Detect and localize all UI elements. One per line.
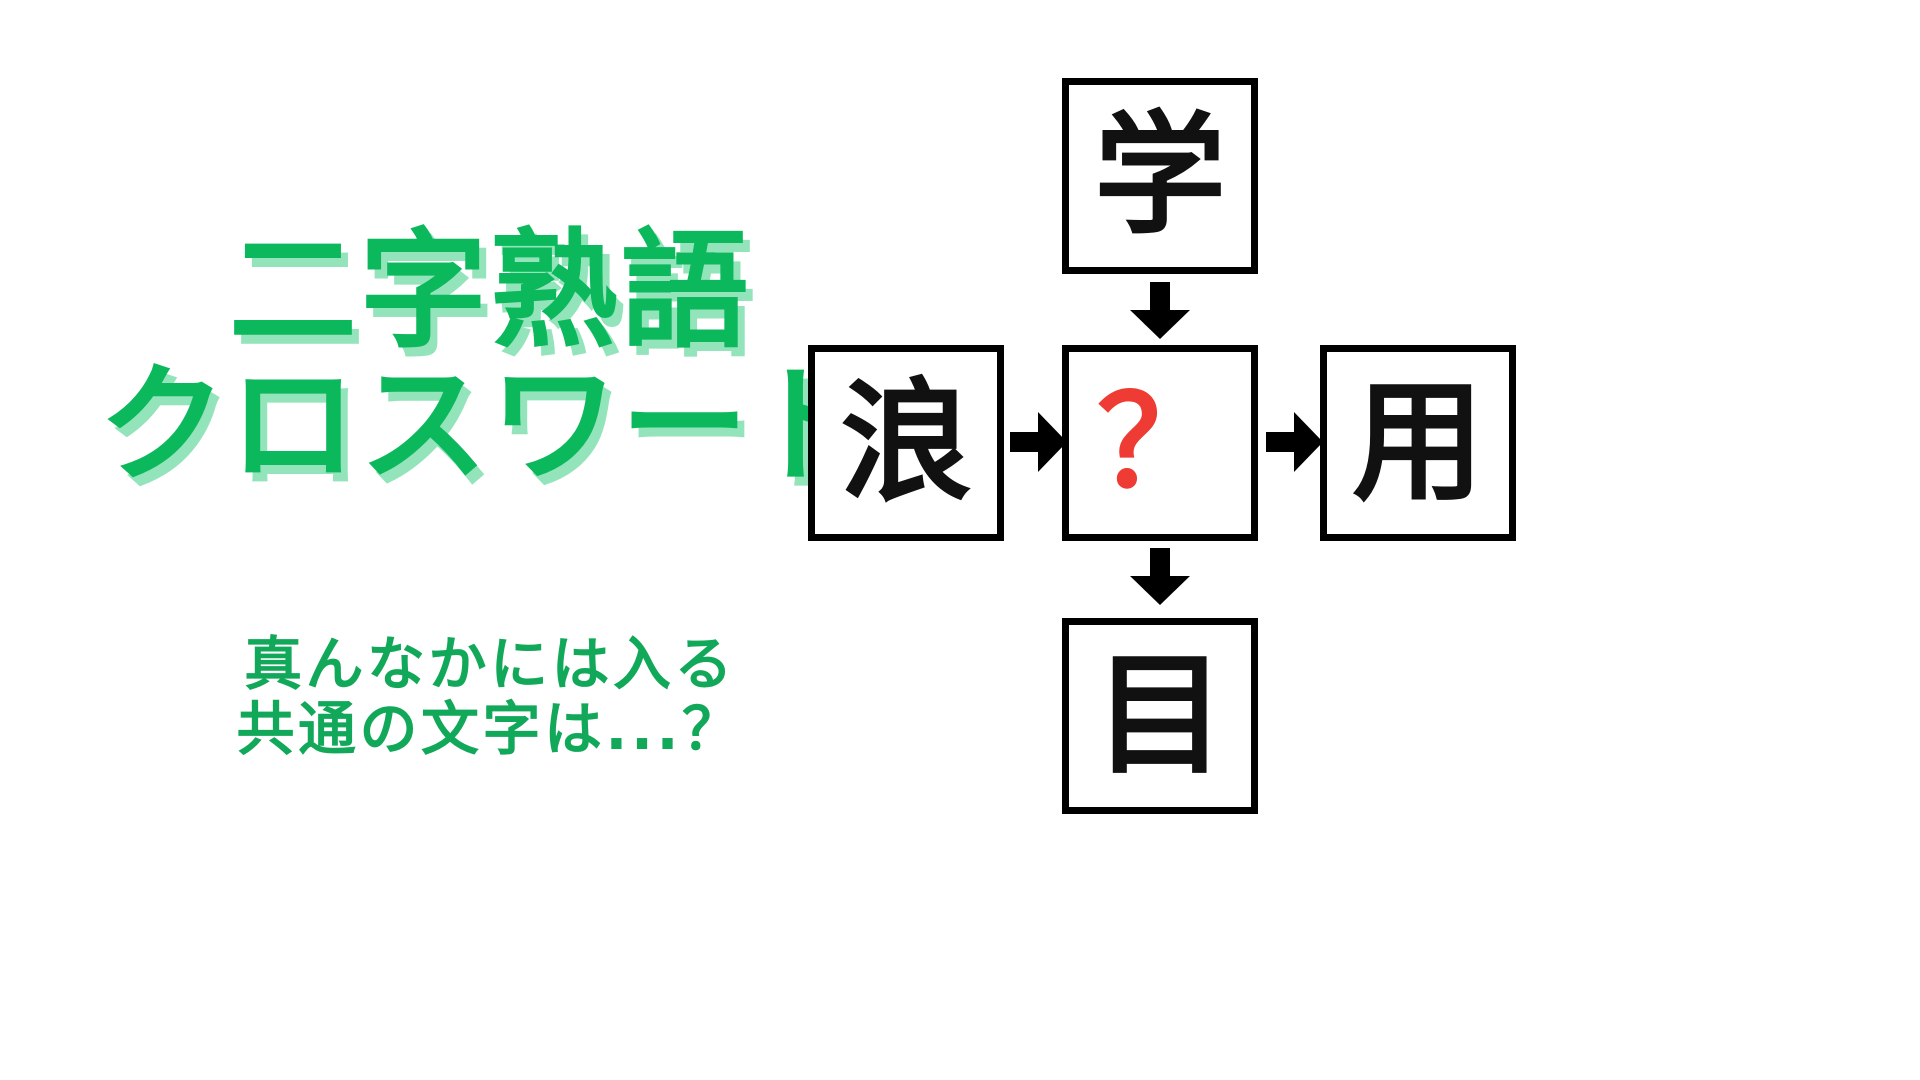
puzzle-cell-left-glyph: 浪	[840, 377, 972, 509]
arrow-down-icon-top	[1128, 282, 1192, 340]
kanji-crossword-diagram: 学 浪 ？ 用	[790, 40, 1920, 1040]
poster-canvas: 二字熟語 クロスワード 真んなかには入る 共通の文字は...？ 学 浪	[0, 0, 1920, 1080]
puzzle-cell-left[interactable]: 浪	[808, 345, 1004, 541]
puzzle-cell-bottom[interactable]: 目	[1062, 618, 1258, 814]
puzzle-cell-right[interactable]: 用	[1320, 345, 1516, 541]
arrow-right-icon-left	[1010, 410, 1068, 474]
puzzle-cell-right-glyph: 用	[1352, 377, 1484, 509]
puzzle-cell-center[interactable]: ？	[1062, 345, 1258, 541]
arrow-right-icon-center	[1266, 410, 1324, 474]
puzzle-cell-top-glyph: 学	[1094, 110, 1226, 242]
puzzle-cell-bottom-glyph: 目	[1094, 650, 1226, 782]
arrow-down-icon-bottom	[1128, 548, 1192, 606]
puzzle-cell-top[interactable]: 学	[1062, 78, 1258, 274]
puzzle-cell-center-glyph: ？	[1097, 380, 1223, 506]
